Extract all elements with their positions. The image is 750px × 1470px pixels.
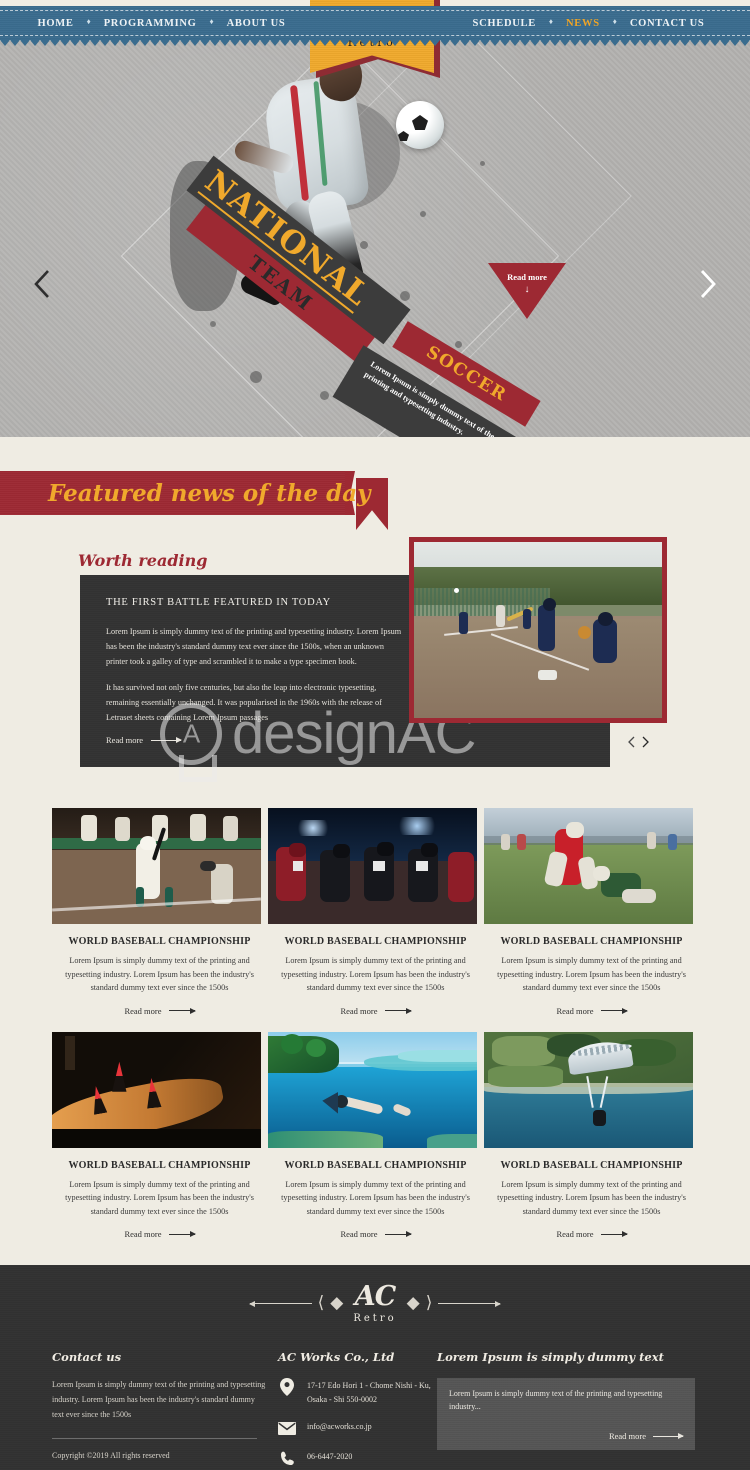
news-card-text: Lorem Ipsum is simply dummy text of the … [52, 1178, 267, 1219]
main-navigation: HOME ♦ PROGRAMMING ♦ ABOUT US SCHEDULE ♦… [0, 6, 750, 42]
nav-item-home[interactable]: HOME [38, 18, 74, 29]
news-card-grid: WORLD BASEBALL CHAMPIONSHIP Lorem Ipsum … [52, 808, 700, 1239]
footer-logo-retro: Retro [353, 1313, 396, 1324]
footer-address: 17-17 Edo Hori 1 - Chome Nishi - Ku, Osa… [307, 1378, 433, 1407]
footer-company-title: AC Works Co., Ltd [278, 1350, 433, 1364]
hero-read-more-label: Read more [507, 272, 547, 282]
nav-links-right: SCHEDULE ♦ NEWS ♦ CONTACT US [375, 18, 750, 29]
news-card[interactable]: WORLD BASEBALL CHAMPIONSHIP Lorem Ipsum … [52, 808, 267, 1016]
diamond-left-icon: ◆ [330, 1295, 343, 1312]
footer-copyright: Copyright ©2019 All rights reserved [52, 1451, 267, 1460]
footer-divider [52, 1438, 257, 1439]
news-card-read-more[interactable]: Read more [52, 1229, 267, 1239]
footer-contact-title: Contact us [52, 1350, 267, 1364]
featured-prev-button[interactable] [628, 736, 635, 748]
read-more-label: Read more [106, 735, 143, 745]
news-card-read-more[interactable]: Read more [52, 1006, 267, 1016]
hero-next-button[interactable] [690, 266, 726, 302]
arrow-right-icon [169, 1234, 195, 1235]
footer-promo-box: Lorem Ipsum is simply dummy text of the … [437, 1378, 695, 1450]
news-card-image [52, 808, 261, 924]
ornament-left-icon: ⟨ [318, 1295, 325, 1312]
news-card-read-more[interactable]: Read more [268, 1229, 483, 1239]
news-card-image [484, 1032, 693, 1148]
chevron-right-icon [699, 269, 717, 299]
location-pin-icon [278, 1378, 296, 1396]
arrow-right-icon [601, 1010, 627, 1011]
hero-slider: TEAM NATIONAL Lorem Ipsum is simply dumm… [0, 41, 750, 437]
news-card-read-more[interactable]: Read more [268, 1006, 483, 1016]
news-card-title: WORLD BASEBALL CHAMPIONSHIP [484, 936, 699, 947]
featured-article-read-more-link[interactable]: Read more [106, 735, 181, 745]
footer-email-row[interactable]: info@acworks.co.jp [278, 1419, 433, 1437]
arrow-left-rule-icon [250, 1303, 312, 1304]
hero-prev-button[interactable] [24, 266, 60, 302]
footer-contact-body: Lorem Ipsum is simply dummy text of the … [52, 1378, 267, 1422]
nav-item-programming[interactable]: PROGRAMMING [104, 18, 197, 29]
read-more-label: Read more [609, 1431, 646, 1441]
news-card-title: WORLD BASEBALL CHAMPIONSHIP [52, 1160, 267, 1171]
nav-item-about-us[interactable]: ABOUT US [227, 18, 286, 29]
news-card-text: Lorem Ipsum is simply dummy text of the … [52, 954, 267, 995]
arrow-right-icon [151, 740, 181, 741]
news-card-image [268, 1032, 477, 1148]
baseball-game-photo [414, 542, 662, 718]
nav-zigzag-edge [0, 39, 750, 47]
footer-promo-title: Lorem Ipsum is simply dummy text [437, 1350, 699, 1364]
footer-contact-column: Contact us Lorem Ipsum is simply dummy t… [52, 1350, 267, 1460]
envelope-icon [278, 1419, 296, 1437]
footer-address-row: 17-17 Edo Hori 1 - Chome Nishi - Ku, Osa… [278, 1378, 433, 1407]
featured-article-image-frame [409, 537, 667, 723]
soccer-ball-icon [396, 101, 444, 149]
footer-logo-ac: AC [353, 1283, 396, 1310]
phone-icon [278, 1449, 296, 1467]
news-card-image [484, 808, 693, 924]
featured-news-title: Featured news of the day [48, 480, 370, 507]
news-card[interactable]: WORLD BASEBALL CHAMPIONSHIP Lorem Ipsum … [268, 808, 483, 1016]
news-card-title: WORLD BASEBALL CHAMPIONSHIP [268, 1160, 483, 1171]
read-more-label: Read more [556, 1006, 593, 1016]
arrow-right-icon [385, 1010, 411, 1011]
news-card-image [268, 808, 477, 924]
news-card-title: WORLD BASEBALL CHAMPIONSHIP [268, 936, 483, 947]
featured-carousel-nav[interactable] [628, 736, 649, 748]
news-card[interactable]: WORLD BASEBALL CHAMPIONSHIP Lorem Ipsum … [268, 1032, 483, 1240]
featured-next-button[interactable] [642, 736, 649, 748]
diamond-right-icon: ◆ [407, 1295, 420, 1312]
ink-splatter [320, 391, 329, 400]
arrow-right-rule-icon [438, 1303, 500, 1304]
footer-promo-column: Lorem Ipsum is simply dummy text Lorem I… [437, 1350, 699, 1450]
nav-links-left: HOME ♦ PROGRAMMING ♦ ABOUT US [0, 18, 375, 29]
footer-logo[interactable]: ⟨ ◆ AC Retro ◆ ⟩ [0, 1283, 750, 1324]
footer-promo-read-more[interactable]: Read more [609, 1431, 683, 1441]
news-card-image [52, 1032, 261, 1148]
news-card-text: Lorem Ipsum is simply dummy text of the … [268, 1178, 483, 1219]
read-more-label: Read more [340, 1229, 377, 1239]
nav-links: HOME ♦ PROGRAMMING ♦ ABOUT US SCHEDULE ♦… [0, 6, 750, 40]
nav-item-contact-us[interactable]: CONTACT US [630, 18, 705, 29]
read-more-label: Read more [124, 1006, 161, 1016]
arrow-right-icon [653, 1436, 683, 1437]
diamond-separator-icon: ♦ [210, 18, 214, 26]
diamond-separator-icon: ♦ [549, 18, 553, 26]
featured-article-paragraph-1: Lorem Ipsum is simply dummy text of the … [106, 624, 406, 670]
news-card[interactable]: WORLD BASEBALL CHAMPIONSHIP Lorem Ipsum … [484, 1032, 699, 1240]
read-more-label: Read more [340, 1006, 377, 1016]
read-more-label: Read more [556, 1229, 593, 1239]
footer-company-column: AC Works Co., Ltd 17-17 Edo Hori 1 - Cho… [278, 1350, 433, 1470]
nav-item-schedule[interactable]: SCHEDULE [473, 18, 536, 29]
news-card-read-more[interactable]: Read more [484, 1006, 699, 1016]
ornament-right-icon: ⟩ [426, 1295, 433, 1312]
chevron-left-icon [33, 269, 51, 299]
site-footer: ⟨ ◆ AC Retro ◆ ⟩ Contact us Lorem Ipsum … [0, 1265, 750, 1470]
arrow-right-icon [601, 1234, 627, 1235]
news-card[interactable]: WORLD BASEBALL CHAMPIONSHIP Lorem Ipsum … [52, 1032, 267, 1240]
arrow-right-icon [169, 1010, 195, 1011]
worth-reading-heading: Worth reading [78, 551, 207, 570]
featured-article-paragraph-2: It has survived not only five centuries,… [106, 680, 406, 726]
diamond-separator-icon: ♦ [87, 18, 91, 26]
footer-promo-body: Lorem Ipsum is simply dummy text of the … [449, 1388, 683, 1414]
news-card-text: Lorem Ipsum is simply dummy text of the … [484, 1178, 699, 1219]
news-card-title: WORLD BASEBALL CHAMPIONSHIP [484, 1160, 699, 1171]
news-card-read-more[interactable]: Read more [484, 1229, 699, 1239]
footer-phone: 06-6447-2020 [307, 1449, 352, 1464]
nav-item-news[interactable]: NEWS [566, 18, 600, 29]
news-card-text: Lorem Ipsum is simply dummy text of the … [268, 954, 483, 995]
read-more-label: Read more [124, 1229, 161, 1239]
news-card-text: Lorem Ipsum is simply dummy text of the … [484, 954, 699, 995]
diamond-separator-icon: ♦ [613, 18, 617, 26]
news-card[interactable]: WORLD BASEBALL CHAMPIONSHIP Lorem Ipsum … [484, 808, 699, 1016]
arrow-down-icon: ↓ [525, 284, 530, 295]
footer-email: info@acworks.co.jp [307, 1419, 372, 1434]
news-card-title: WORLD BASEBALL CHAMPIONSHIP [52, 936, 267, 947]
footer-logo-text: AC Retro [353, 1283, 396, 1324]
page-root: TEAM NATIONAL Lorem Ipsum is simply dumm… [0, 0, 750, 1470]
footer-phone-row[interactable]: 06-6447-2020 [278, 1449, 433, 1467]
featured-news-banner: Featured news of the day [0, 471, 345, 515]
arrow-right-icon [385, 1234, 411, 1235]
